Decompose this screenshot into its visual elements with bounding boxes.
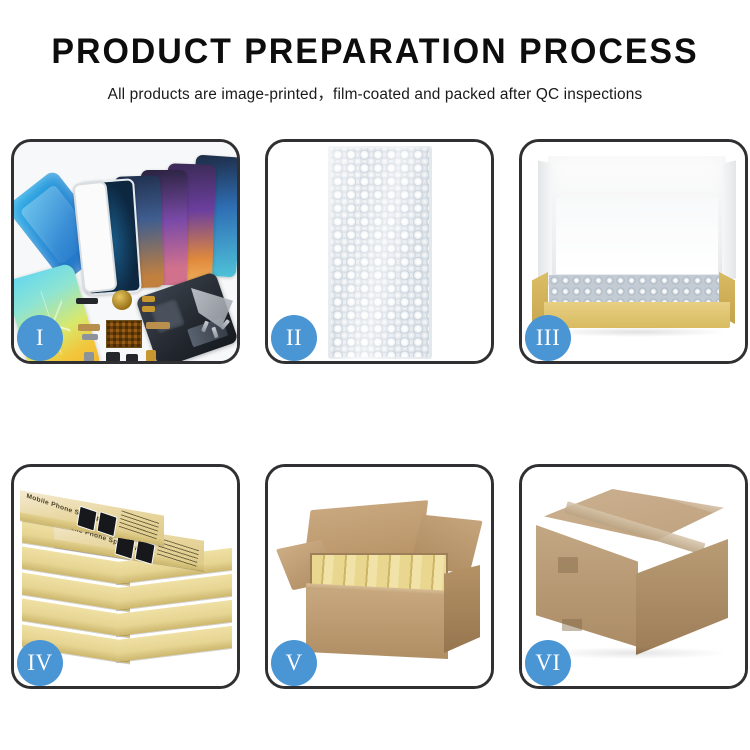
carton-left-face [536, 525, 638, 647]
step-badge-2: II [271, 315, 317, 361]
screws-icon [201, 319, 231, 345]
carton-hand-tab-bottom [562, 619, 582, 631]
carton-shadow [546, 647, 726, 659]
inner-box-shadow [546, 327, 728, 337]
process-step-grid: I II III [11, 139, 739, 689]
small-parts-icon [76, 294, 186, 361]
carton-hand-tab-top [558, 557, 578, 573]
header: PRODUCT PREPARATION PROCESS All products… [0, 0, 750, 104]
step-badge-4: IV [17, 640, 63, 686]
step-panel-5: V [265, 464, 494, 689]
step-panel-3: III [519, 139, 748, 364]
page-title: PRODUCT PREPARATION PROCESS [11, 34, 739, 69]
carton-right-face [636, 539, 728, 655]
inner-box-bubble-fill-icon [549, 275, 725, 305]
step-panel-4: Mobile Phone Spare Parts Mobile Phone Sp… [11, 464, 240, 689]
sealed-carton-icon [536, 489, 736, 665]
open-carton-icon [284, 489, 480, 667]
page-subtitle: All products are image-printed，film-coat… [0, 82, 750, 104]
carton-side-face [444, 565, 480, 653]
step-panel-6: VI [519, 464, 748, 689]
step-badge-5: V [271, 640, 317, 686]
carton-front-face [306, 589, 448, 659]
step-panel-2: II [265, 139, 494, 364]
step-panel-1: I [11, 139, 240, 364]
step-badge-1: I [17, 315, 63, 361]
inner-box-liner-icon [556, 198, 718, 274]
step-badge-3: III [525, 315, 571, 361]
bubble-wrap-icon [328, 146, 432, 359]
step-badge-6: VI [525, 640, 571, 686]
phone-lineup-icon [82, 154, 237, 290]
inner-box-front-icon [544, 302, 730, 328]
